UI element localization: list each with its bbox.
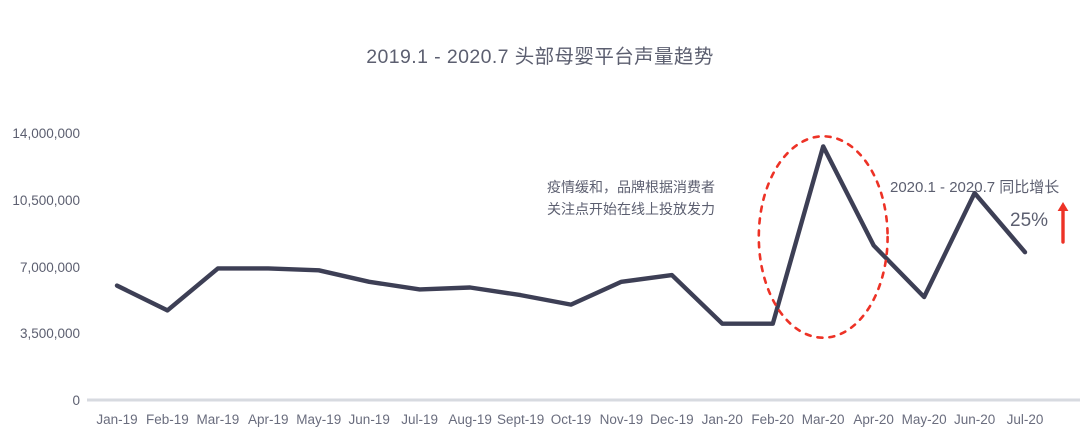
x-tick-label: Oct-19 <box>551 412 592 427</box>
x-tick-label: Jan-20 <box>702 412 743 427</box>
up-arrow-icon <box>1056 200 1070 244</box>
x-tick-label: May-19 <box>296 412 341 427</box>
x-tick-label: Feb-19 <box>146 412 189 427</box>
x-tick-label: May-20 <box>902 412 947 427</box>
x-tick-label: Nov-19 <box>600 412 644 427</box>
annotation-line-1: 疫情缓和，品牌根据消费者 <box>516 177 746 199</box>
x-tick-label: Jun-20 <box>954 412 995 427</box>
data-series-line <box>117 146 1025 323</box>
chart-container: 2019.1 - 2020.7 头部母婴平台声量趋势 14,000,000 10… <box>0 0 1080 447</box>
x-tick-label: Feb-20 <box>751 412 794 427</box>
x-tick-label: Jan-19 <box>96 412 137 427</box>
x-tick-label: Jul-19 <box>401 412 438 427</box>
plot-area <box>0 0 1080 447</box>
x-tick-label: Mar-19 <box>197 412 240 427</box>
x-tick-label: Dec-19 <box>650 412 694 427</box>
x-axis-labels: Jan-19Feb-19Mar-19Apr-19May-19Jun-19Jul-… <box>0 412 1080 442</box>
x-tick-label: Sept-19 <box>497 412 544 427</box>
x-tick-label: Jul-20 <box>1007 412 1044 427</box>
x-tick-label: Apr-19 <box>248 412 289 427</box>
covid-recovery-annotation: 疫情缓和，品牌根据消费者 关注点开始在线上投放发力 <box>516 177 746 220</box>
annotation-line-2: 关注点开始在线上投放发力 <box>516 199 746 221</box>
x-tick-label: Mar-20 <box>802 412 845 427</box>
yoy-growth-label: 2020.1 - 2020.7 同比增长 <box>890 176 1059 197</box>
x-tick-label: Jun-19 <box>349 412 390 427</box>
x-tick-label: Apr-20 <box>853 412 894 427</box>
x-tick-label: Aug-19 <box>448 412 492 427</box>
yoy-growth-value: 25% <box>1010 210 1048 232</box>
